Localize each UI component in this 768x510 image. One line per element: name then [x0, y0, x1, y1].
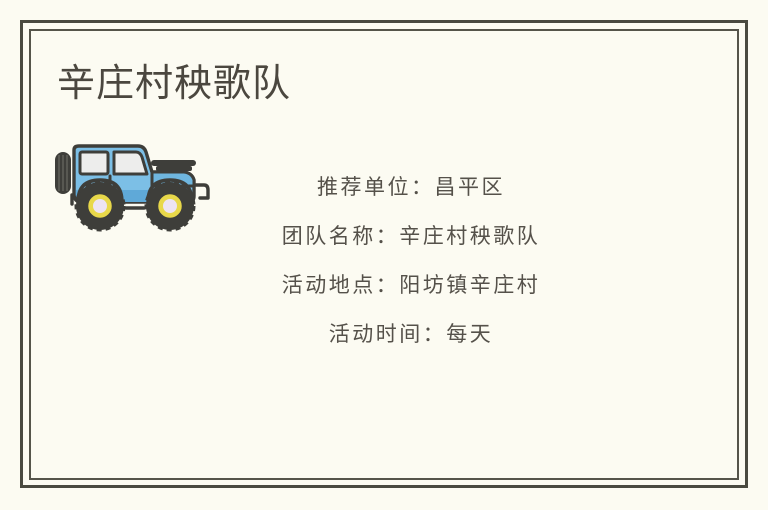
- info-value-activity-location: 阳坊镇辛庄村: [399, 273, 540, 297]
- info-line-team-name: 团队名称：辛庄村秧歌队: [225, 212, 597, 261]
- page-title: 辛庄村秧歌队: [57, 60, 291, 108]
- blue-jeep-icon: [52, 140, 220, 240]
- team-info-block: 推荐单位：昌平区 团队名称：辛庄村秧歌队 活动地点：阳坊镇辛庄村 活动时间：每天: [225, 163, 597, 359]
- info-value-team-name: 辛庄村秧歌队: [399, 224, 540, 248]
- info-label-recommending-unit: 推荐单位：: [317, 175, 435, 199]
- info-line-activity-location: 活动地点：阳坊镇辛庄村: [225, 261, 597, 310]
- info-card: 辛庄村秧歌队: [0, 0, 768, 510]
- info-value-activity-time: 每天: [446, 322, 493, 346]
- info-line-activity-time: 活动时间：每天: [225, 310, 597, 359]
- info-line-recommending-unit: 推荐单位：昌平区: [225, 163, 597, 212]
- info-value-recommending-unit: 昌平区: [435, 175, 506, 199]
- info-label-activity-time: 活动时间：: [329, 322, 447, 346]
- info-label-team-name: 团队名称：: [282, 224, 400, 248]
- info-label-activity-location: 活动地点：: [282, 273, 400, 297]
